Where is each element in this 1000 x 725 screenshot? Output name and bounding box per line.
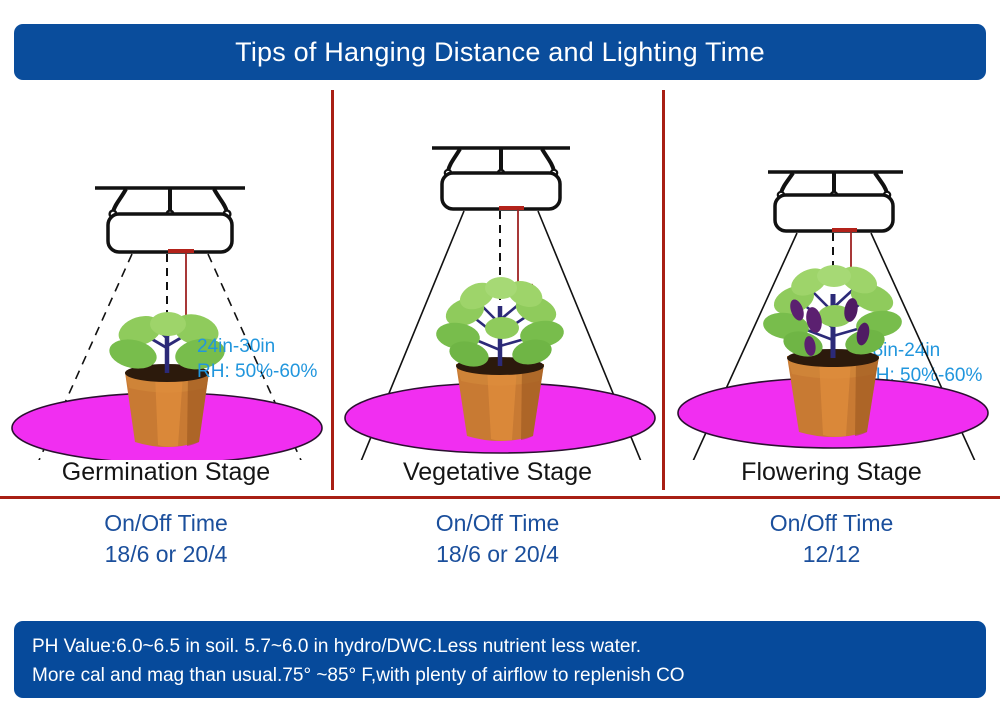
hanger-wire-right — [542, 149, 554, 171]
footer-line-1: PH Value:6.0~6.5 in soil. 5.7~6.0 in hyd… — [32, 632, 685, 661]
onoff-germination: On/Off Time 18/6 or 20/4 — [0, 508, 332, 570]
fixture-led-strip — [832, 228, 857, 232]
onoff-value: 12/12 — [663, 539, 1000, 570]
footer-line-2-main: More cal and mag than usual.75° ~85° F,w… — [32, 661, 685, 690]
hanger-wire-left — [448, 149, 460, 171]
onoff-label: On/Off Time — [663, 508, 1000, 539]
onoff-label: On/Off Time — [0, 508, 332, 539]
onoff-value: 18/6 or 20/4 — [0, 539, 332, 570]
distance-caption-germination: 24in-30in RH: 50%-60% — [197, 334, 317, 384]
hanging-distance-value: 24in-30in — [197, 334, 317, 359]
stage-name-vegetative: Vegetative Stage — [332, 458, 663, 487]
fixture-led-strip — [168, 249, 194, 253]
hanger-wire-left — [781, 173, 793, 193]
hanger-wire-right — [214, 189, 227, 212]
pot-highlight — [819, 359, 851, 437]
humidity-value: RH: 50%-60% — [197, 359, 317, 384]
footer-line-2: More cal and mag than usual.75° ~85° F,w… — [32, 661, 685, 725]
onoff-time-row: On/Off Time 18/6 or 20/4 On/Off Time 18/… — [0, 508, 1000, 608]
footer-line-2-subscript: 2 — [32, 690, 685, 719]
stage-panel-vegetative: 18in-24in RH: 50%-60% Vegetative Stage — [332, 88, 663, 498]
footer-line-2-tail: . — [32, 719, 685, 725]
stage-panel-flowering: 12in-24in RH: 35%-50% Flowering Stage — [663, 88, 1000, 498]
footer-text: PH Value:6.0~6.5 in soil. 5.7~6.0 in hyd… — [32, 632, 685, 725]
onoff-flowering: On/Off Time 12/12 — [663, 508, 1000, 570]
leaf — [485, 317, 519, 339]
horizontal-rule — [0, 496, 1000, 499]
stage-name-germination: Germination Stage — [0, 458, 332, 487]
vegetative-scene — [332, 88, 663, 460]
panel-divider-1 — [331, 90, 334, 490]
grow-light-fixture — [442, 173, 560, 209]
footer-banner: PH Value:6.0~6.5 in soil. 5.7~6.0 in hyd… — [14, 621, 986, 698]
fixture-led-strip — [499, 206, 524, 210]
grow-light-fixture — [775, 195, 893, 231]
infographic-page: Tips of Hanging Distance and Lighting Ti… — [0, 0, 1000, 725]
header-banner: Tips of Hanging Distance and Lighting Ti… — [14, 24, 986, 80]
stage-panel-germination: 24in-30in RH: 50%-60% Germination Stage — [0, 88, 332, 498]
flowering-scene — [663, 88, 1000, 460]
panel-divider-2 — [662, 90, 665, 490]
page-title: Tips of Hanging Distance and Lighting Ti… — [235, 37, 765, 68]
pot-highlight — [487, 367, 517, 441]
grow-light-fixture — [108, 214, 232, 252]
onoff-value: 18/6 or 20/4 — [332, 539, 663, 570]
leaf — [817, 265, 851, 287]
hanger-wire-left — [113, 189, 126, 212]
stage-name-flowering: Flowering Stage — [663, 458, 1000, 487]
germination-scene — [0, 88, 332, 460]
leaf — [150, 312, 186, 336]
leaf — [485, 277, 517, 299]
onoff-vegetative: On/Off Time 18/6 or 20/4 — [332, 508, 663, 570]
onoff-label: On/Off Time — [332, 508, 663, 539]
hanger-wire-right — [875, 173, 887, 193]
stage-panels: 24in-30in RH: 50%-60% Germination Stage — [0, 88, 1000, 498]
